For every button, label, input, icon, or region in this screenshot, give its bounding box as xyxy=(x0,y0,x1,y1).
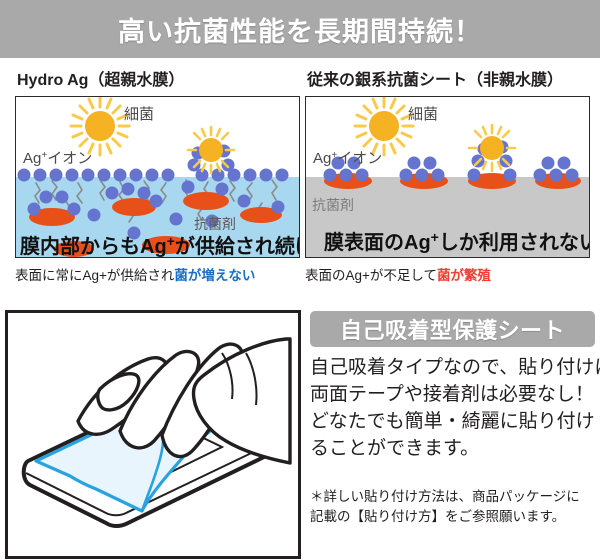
page-title: 高い抗菌性能を長期間持続！ xyxy=(0,0,600,58)
comparison-panel-conventional: 従来の銀系抗菌シート（非親水膜） xyxy=(305,66,590,288)
label-agent-hydro: 抗菌剤 xyxy=(194,216,236,232)
label-ag-ion-hydro: Ag+イオン xyxy=(23,150,92,167)
panel-caption-hydro-ag: 表面に常にAg+が供給され菌が増えない xyxy=(15,264,300,284)
diagram-overlay-text-conventional: 膜表面のAg+しか利用されない xyxy=(323,229,589,254)
panel-caption-conventional: 表面のAg+が不足して菌が繁殖 xyxy=(305,264,590,284)
bacteria-sun-1 xyxy=(71,97,129,155)
bacteria-sun-2 xyxy=(469,125,515,171)
bacteria-sun-1 xyxy=(355,97,413,155)
adhesive-description-line-2: 両面テープや接着剤は必要なし！ xyxy=(310,382,598,409)
caption-accent-hydro: 菌が増えない xyxy=(174,268,255,283)
caption-plain-conventional: 表面のAg+が不足して xyxy=(305,268,437,283)
adhesive-footnote: ＊詳しい貼り付け方法は、商品パッケージに 記載の【貼り付け方】をご参照願います。 xyxy=(310,487,598,528)
diagram-overlay-text-hydro: 膜内部からもAg+が供給され続ける xyxy=(19,233,299,257)
adhesive-description-line-1: 自己吸着タイプなので、貼り付けに xyxy=(310,355,598,382)
panel-title-conventional: 従来の銀系抗菌シート（非親水膜） xyxy=(307,66,590,90)
diagram-conventional: 細菌 Ag+イオン 抗菌剤 膜表面のAg+しか利用されない xyxy=(305,96,590,258)
label-bacteria-conventional: 細菌 xyxy=(408,106,438,123)
diagram-hydro-ag: 細菌 Ag+イオン 抗菌剤 膜内部からもAg+が供給され続ける xyxy=(15,96,300,258)
panel-title-hydro-ag: Hydro Ag（超親水膜） xyxy=(17,66,300,90)
adhesive-footnote-line-1: ＊詳しい貼り付け方法は、商品パッケージに xyxy=(310,487,598,507)
label-ag-ion-conventional: Ag+イオン xyxy=(313,150,382,167)
adhesive-banner-label: 自己吸着型保護シート xyxy=(310,311,595,347)
caption-plain-hydro: 表面に常にAg+が供給され xyxy=(15,268,174,283)
comparison-panel-hydro-ag: Hydro Ag（超親水膜） xyxy=(15,66,300,288)
application-illustration xyxy=(5,310,301,559)
label-agent-conventional: 抗菌剤 xyxy=(312,197,354,213)
adhesive-description-line-4: ることができます。 xyxy=(310,436,598,463)
adhesive-description-line-3: どなたでも簡単・綺麗に貼り付け xyxy=(310,409,598,436)
label-bacteria-hydro: 細菌 xyxy=(124,106,154,123)
adhesive-description: 自己吸着タイプなので、貼り付けに 両面テープや接着剤は必要なし！ どなたでも簡単… xyxy=(310,355,598,463)
bacteria-sun-2 xyxy=(188,127,234,173)
caption-accent-conventional: 菌が繁殖 xyxy=(437,268,491,283)
adhesive-footnote-line-2: 記載の【貼り付け方】をご参照願います。 xyxy=(310,507,598,527)
